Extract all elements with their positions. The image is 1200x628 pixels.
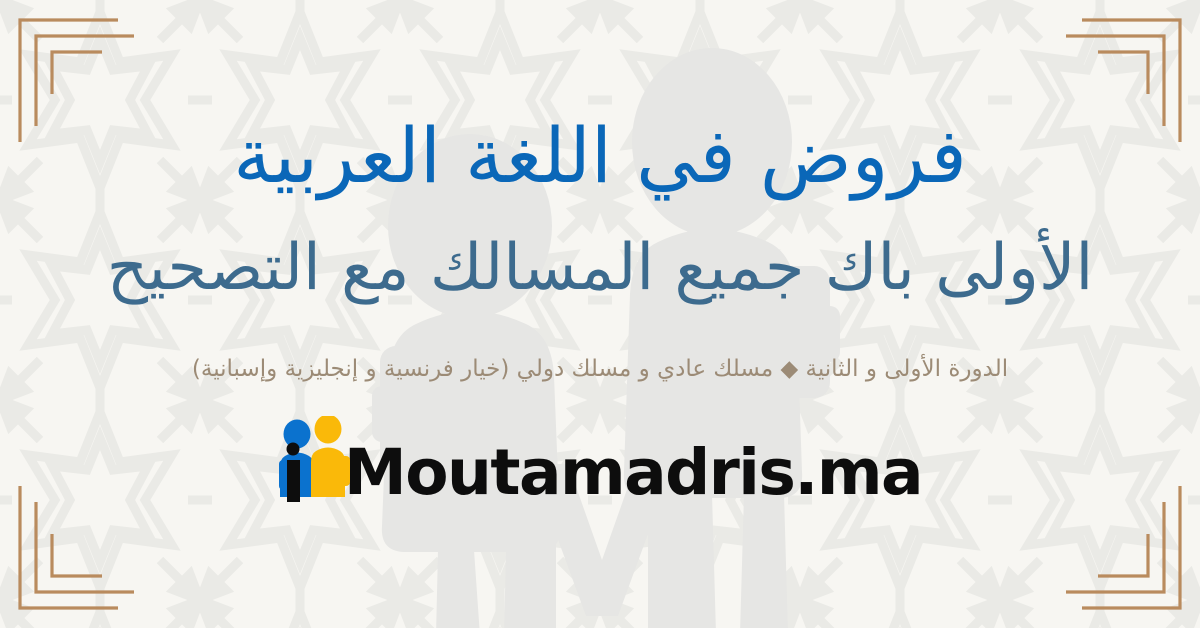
page-title-secondary: الأولى باك جميع المسالك مع التصحيح: [107, 236, 1093, 300]
students-logo-icon: [278, 416, 362, 502]
poster-canvas: فروض في اللغة العربية الأولى باك جميع ال…: [0, 0, 1200, 628]
page-title-primary: فروض في اللغة العربية: [233, 118, 967, 194]
poster-content: فروض في اللغة العربية الأولى باك جميع ال…: [0, 0, 1200, 628]
course-details-line: الدورة الأولى و الثانية ◆ مسلك عادي و مس…: [192, 356, 1008, 382]
site-logo[interactable]: Moutamadris.ma: [278, 416, 922, 502]
logo-wordmark: Moutamadris.ma: [344, 444, 922, 502]
